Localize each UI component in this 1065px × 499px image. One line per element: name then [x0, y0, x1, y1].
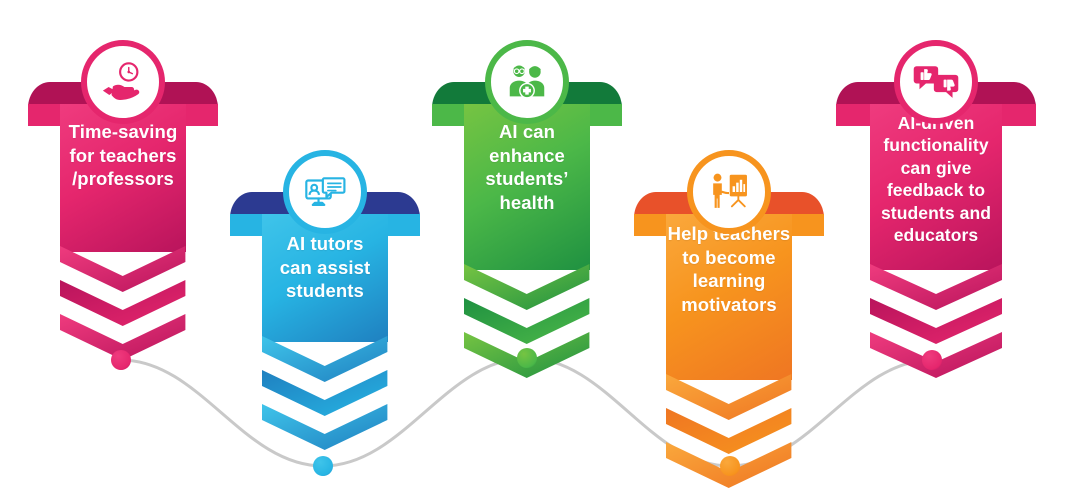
- infographic-canvas: Time-saving for teachers /professors: [0, 0, 1065, 499]
- students-health-cross-icon: [485, 40, 569, 124]
- timeline-dot: [922, 350, 942, 370]
- timeline-dot: [313, 456, 333, 476]
- banner-chevron: [262, 404, 387, 450]
- step-label: Time-saving for teachers /professors: [28, 120, 218, 191]
- timeline-dot: [517, 348, 537, 368]
- monitor-person-chat-icon: [283, 150, 367, 234]
- step-label: AI tutors can assist students: [230, 232, 420, 303]
- hand-holding-clock-icon: [81, 40, 165, 124]
- speech-bubbles-feedback-icon: [894, 40, 978, 124]
- step-label: AI can enhance students’ health: [432, 120, 622, 215]
- timeline-dot: [111, 350, 131, 370]
- teacher-presentation-icon: [687, 150, 771, 234]
- step-label: AI-driven functionality can give feedbac…: [836, 112, 1036, 246]
- step-label: Help teachers to become learning motivat…: [634, 222, 824, 317]
- timeline-dot: [720, 456, 740, 476]
